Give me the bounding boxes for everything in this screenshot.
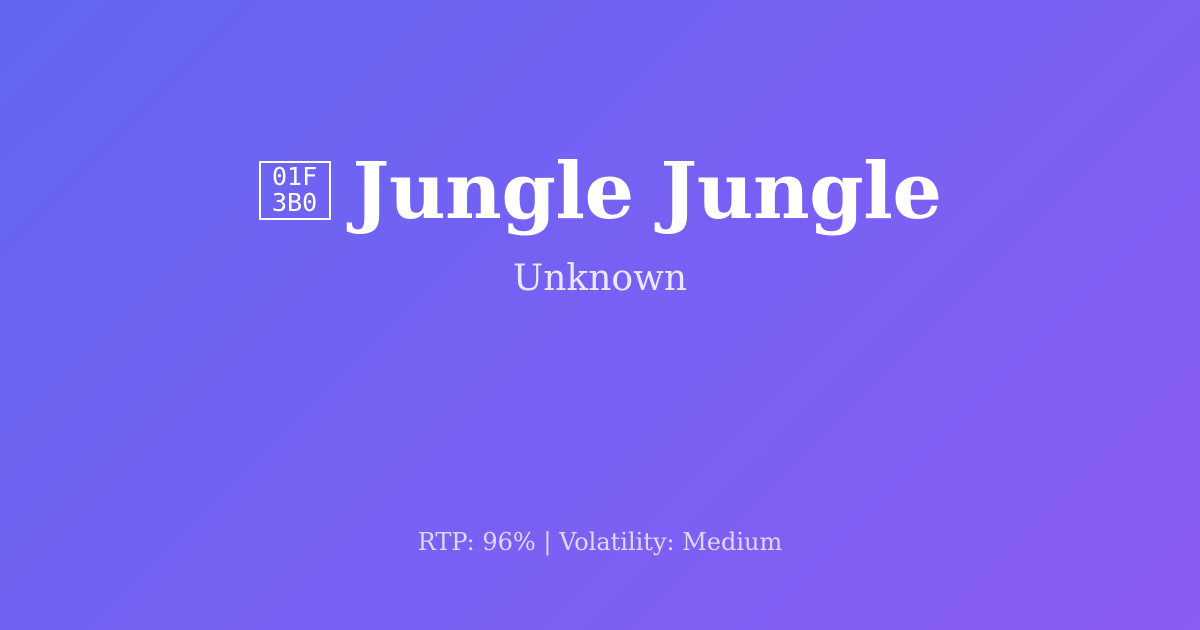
slot-machine-emoji-icon: 01F 3B0 (259, 161, 331, 220)
codepoint-low: 3B0 (272, 190, 317, 216)
page-title: 01F 3B0 Jungle Jungle (259, 151, 942, 233)
game-provider-subtitle: Unknown (513, 257, 687, 300)
title-block: 01F 3B0 Jungle Jungle Unknown (0, 0, 1200, 452)
codepoint-high: 01F (272, 164, 317, 190)
og-share-card: 01F 3B0 Jungle Jungle Unknown RTP: 96% |… (0, 0, 1200, 630)
game-meta-line: RTP: 96% | Volatility: Medium (0, 528, 1200, 556)
game-title-text: Jungle Jungle (353, 151, 942, 233)
